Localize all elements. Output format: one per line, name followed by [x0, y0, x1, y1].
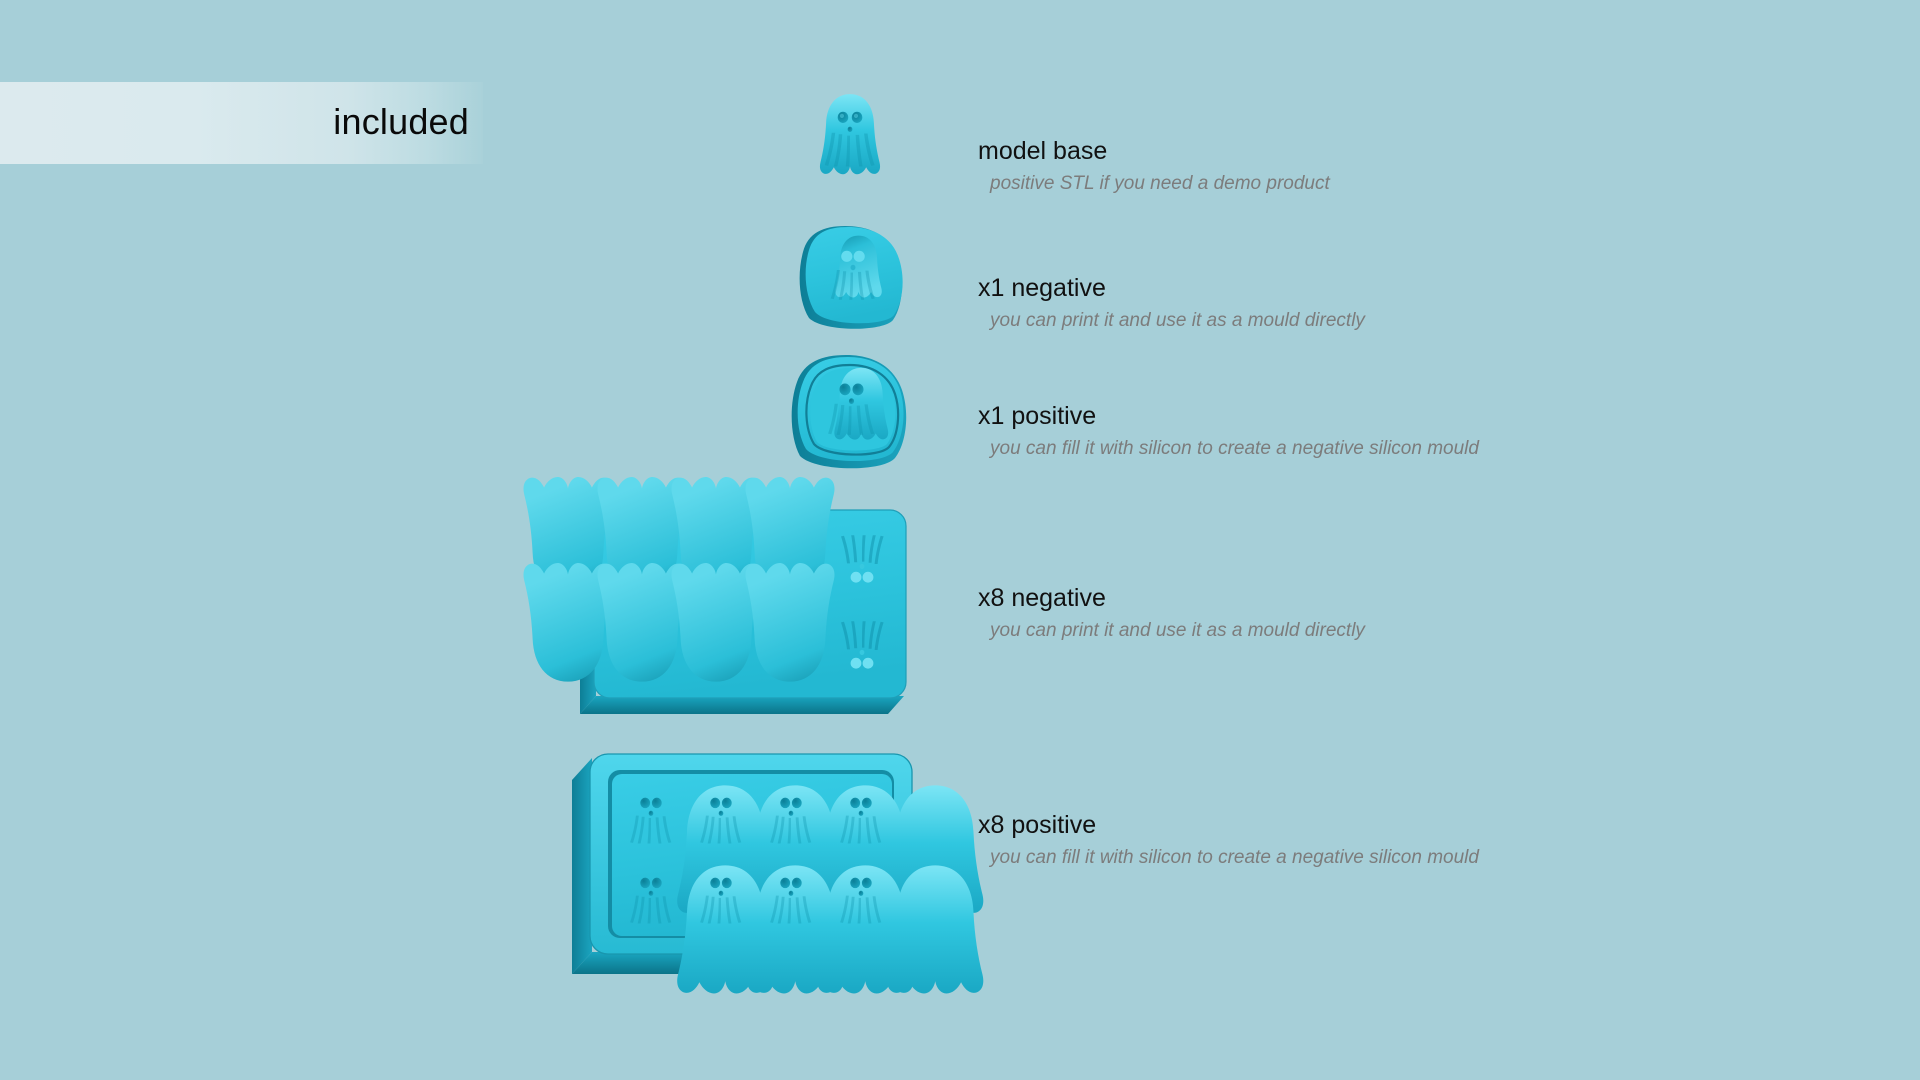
label-x8-negative: x8 negative you can print it and use it … [978, 585, 1365, 642]
label-x1-negative: x1 negative you can print it and use it … [978, 275, 1365, 332]
label-x8-positive: x8 positive you can fill it with silicon… [978, 812, 1479, 869]
item-title: model base [978, 138, 1330, 164]
item-title: x8 positive [978, 812, 1479, 838]
ghost-positive-tray-icon [786, 352, 916, 476]
x1-negative-render [793, 222, 911, 334]
page-title: included [333, 101, 469, 143]
x1-positive-render [786, 352, 916, 476]
label-x1-positive: x1 positive you can fill it with silicon… [978, 403, 1479, 460]
included-banner: included [0, 82, 483, 164]
item-title: x1 negative [978, 275, 1365, 301]
model-base-render [800, 92, 900, 182]
ghost-tray-positive-8-icon [566, 742, 922, 990]
ghost-negative-cavity-icon [793, 222, 911, 334]
label-model-base: model base positive STL if you need a de… [978, 138, 1330, 195]
item-title: x1 positive [978, 403, 1479, 429]
ghost-tray-negative-8-icon [572, 500, 912, 722]
ghost-single-model-icon [800, 92, 900, 182]
item-title: x8 negative [978, 585, 1365, 611]
item-subtitle: you can print it and use it as a mould d… [990, 310, 1365, 332]
item-subtitle: you can fill it with silicon to create a… [990, 438, 1479, 460]
item-subtitle: you can print it and use it as a mould d… [990, 620, 1365, 642]
x8-positive-render [566, 742, 922, 990]
item-subtitle: positive STL if you need a demo product [990, 173, 1330, 195]
x8-negative-render [572, 500, 912, 722]
included-parts-infographic: included [0, 0, 1920, 1080]
item-subtitle: you can fill it with silicon to create a… [990, 847, 1479, 869]
